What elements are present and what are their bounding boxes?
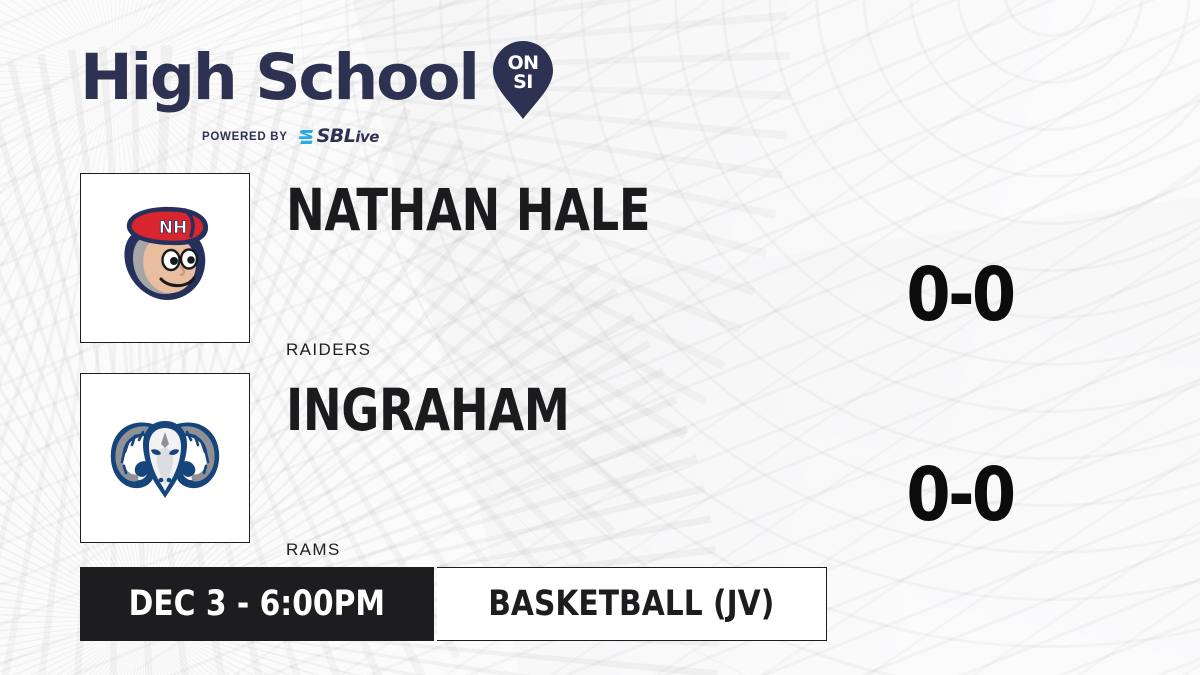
game-datetime-text: DEC 3 - 6:00PM — [129, 587, 385, 622]
nh-monogram-text: NH — [159, 218, 187, 238]
team-name-home: NATHAN HALE — [286, 181, 798, 239]
game-sport-text: BASKETBALL (JV) — [488, 587, 774, 622]
team-logo-box-home: NH — [80, 173, 250, 343]
matchup-card: High School ON SI POWERED BY — [0, 0, 1200, 675]
pin-line-2-text: SI — [513, 71, 533, 93]
game-sport-block: BASKETBALL (JV) — [437, 567, 827, 641]
powered-by-label: POWERED BY — [202, 131, 288, 143]
nathan-hale-raiders-logo-icon: NH — [95, 188, 235, 328]
team-name-away: INGRAHAM — [286, 381, 798, 439]
game-info-bar: DEC 3 - 6:00PM BASKETBALL (JV) — [80, 567, 827, 641]
on-si-pin-icon: ON SI — [492, 40, 554, 120]
team-text-home: NATHAN HALE RAIDERS — [286, 173, 926, 239]
team-mascot-away: RAMS — [286, 540, 341, 560]
powered-by-row: POWERED BY SBLive — [80, 127, 554, 146]
sblive-logo: SBLive — [297, 127, 379, 146]
brand-row: High School ON SI — [80, 36, 554, 120]
game-datetime-block: DEC 3 - 6:00PM — [80, 567, 434, 641]
team-record-home: 0-0 — [857, 258, 1063, 332]
team-record-away: 0-0 — [857, 458, 1063, 532]
team-mascot-home: RAIDERS — [286, 340, 371, 360]
sblive-s-mark-icon — [297, 128, 314, 145]
sblive-wordmark: SBLive — [317, 127, 379, 146]
sblive-main-text: SBL — [317, 125, 356, 147]
brand-wordmark: High School — [80, 48, 478, 108]
team-logo-box-away — [80, 373, 250, 543]
ingraham-rams-logo-icon — [95, 388, 235, 528]
sblive-tail-text: ive — [355, 128, 379, 146]
brand-lockup[interactable]: High School ON SI POWERED BY — [80, 36, 554, 146]
team-text-away: INGRAHAM RAMS — [286, 373, 926, 439]
